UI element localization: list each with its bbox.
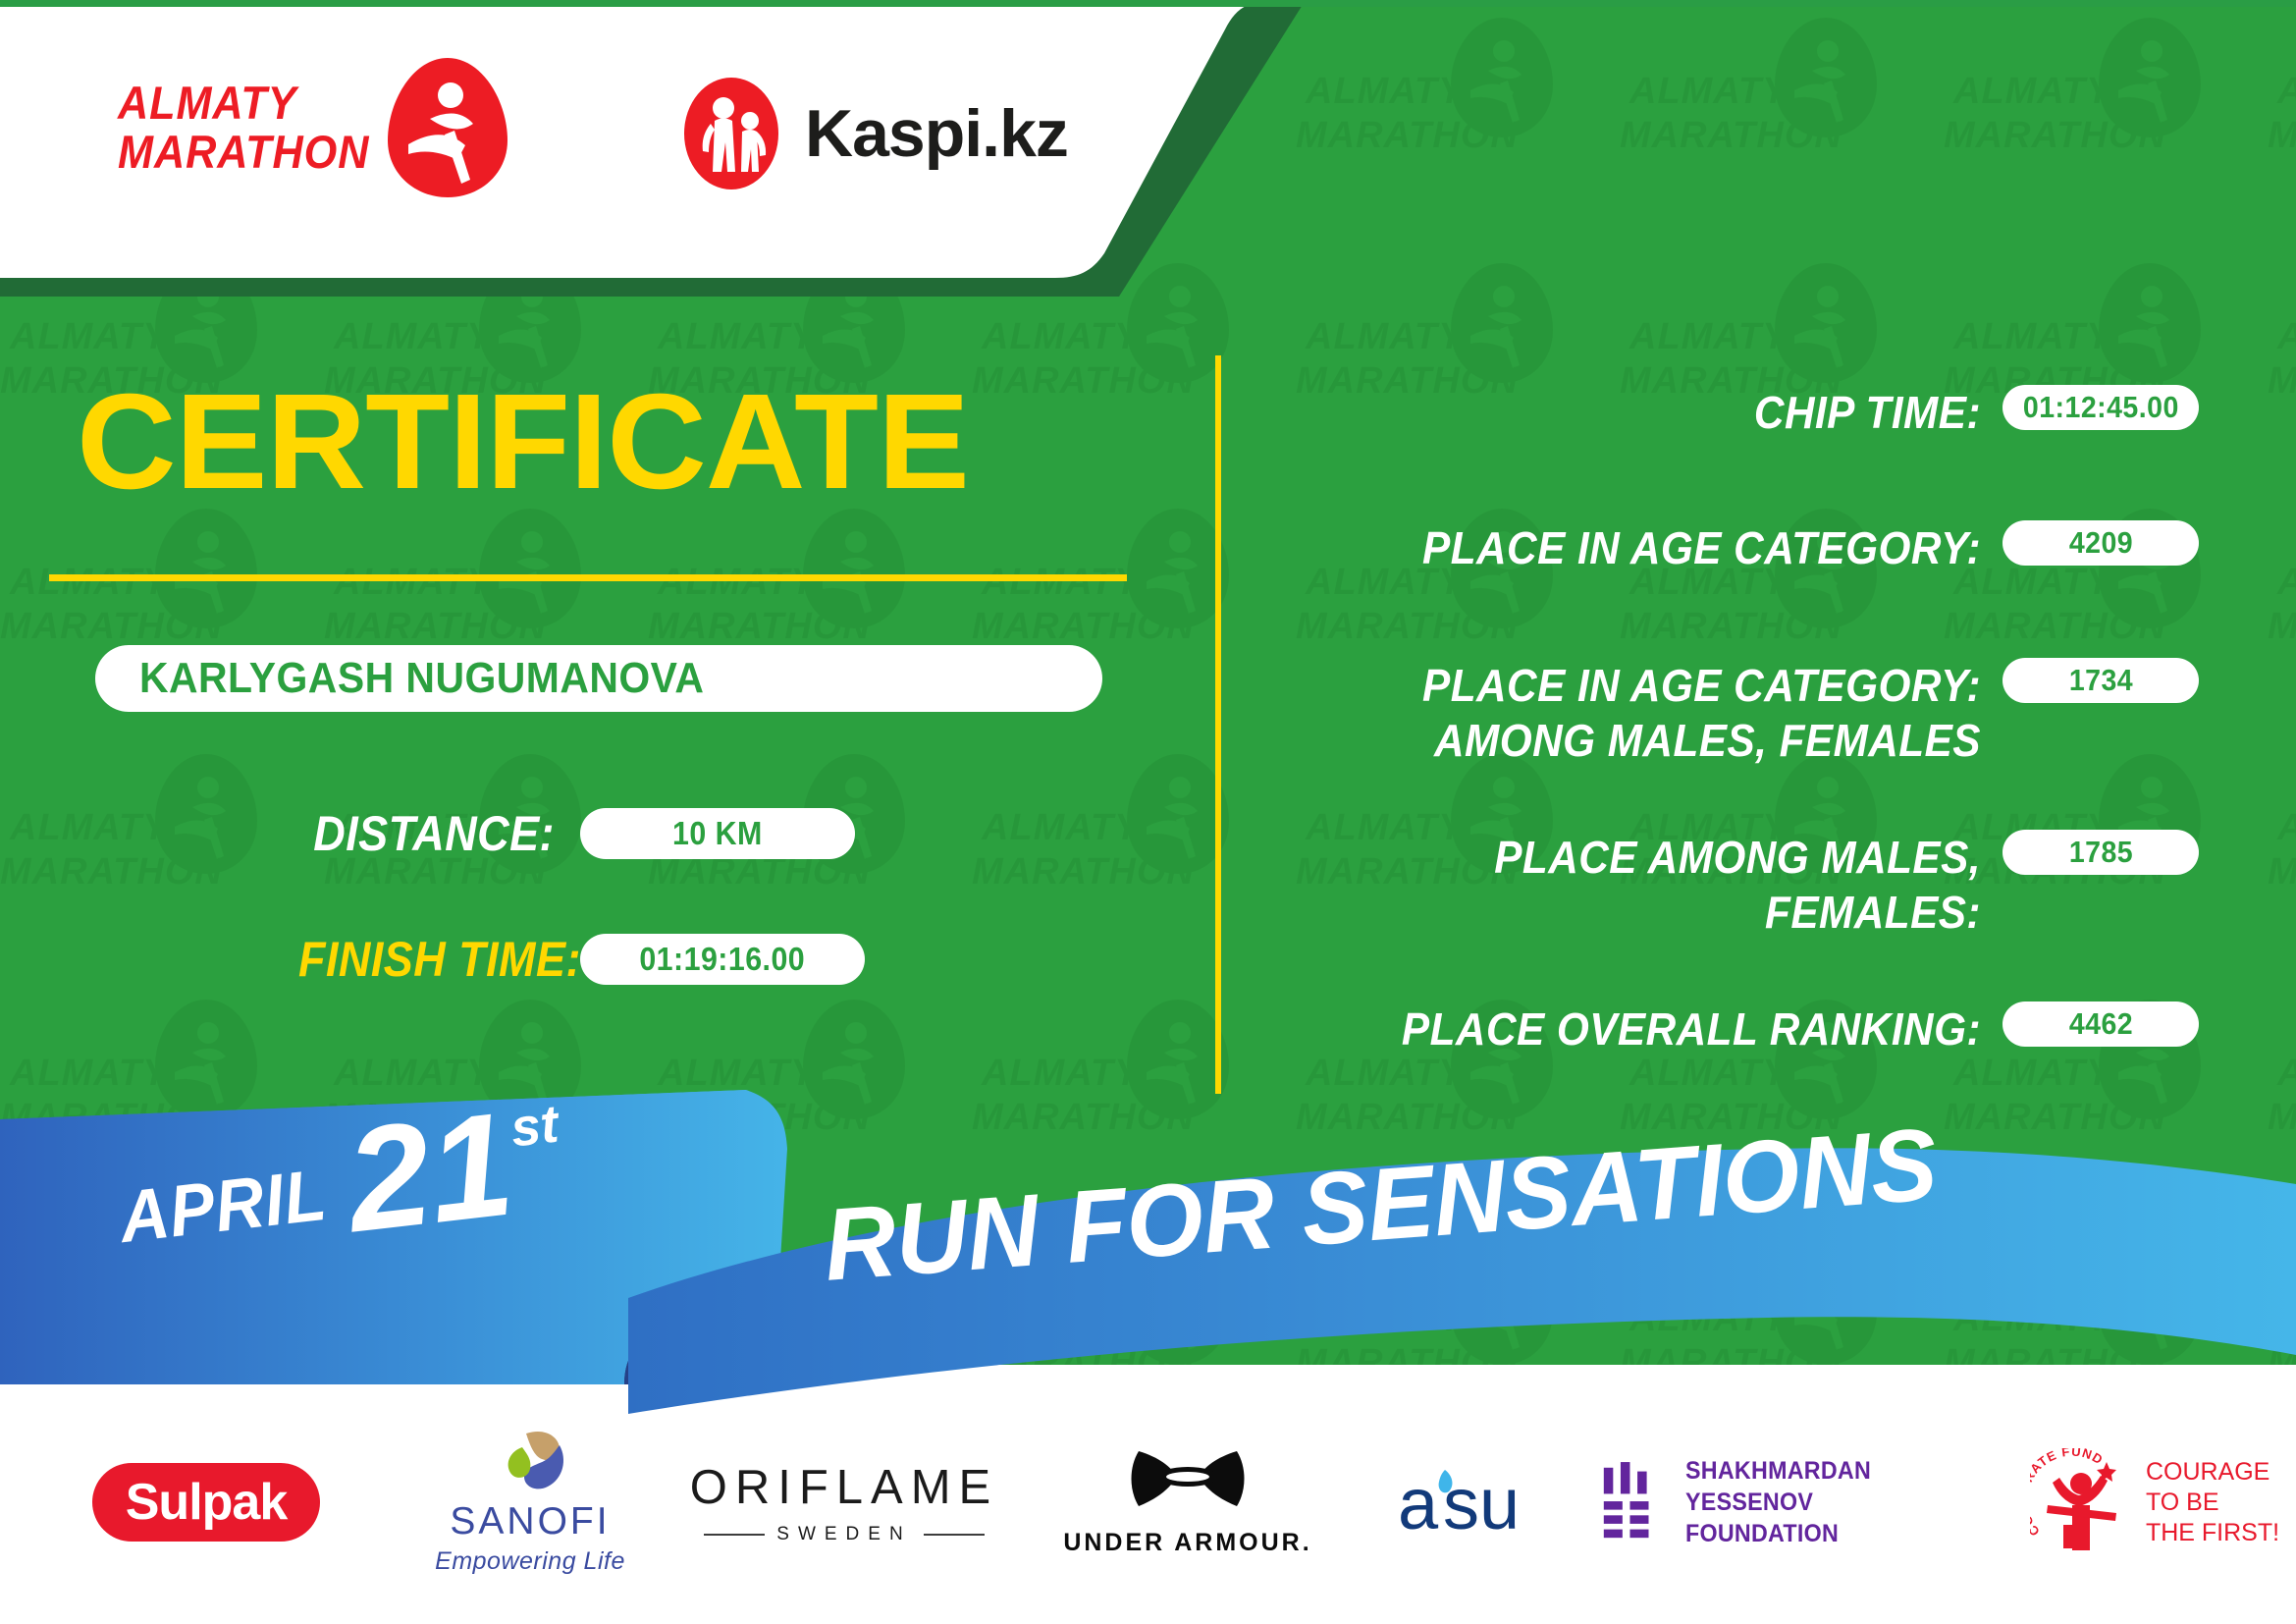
courage-runner-icon: CORPORATE FUND — [2030, 1448, 2132, 1556]
event-month: APRIL — [116, 1153, 331, 1259]
almaty-marathon-line1: ALMATY — [118, 79, 369, 128]
courage-fund-tagline: COURAGE TO BE THE FIRST! — [2146, 1457, 2279, 1548]
sponsor-courage-fund: CORPORATE FUND COURAGE TO BE THE FIRST! — [2022, 1414, 2287, 1591]
yessenov-foundation-wordmark: SHAKHMARDAN YESSENOV FOUNDATION — [1685, 1455, 1990, 1549]
place-age-category-value-pill: 4209 — [2002, 520, 2199, 566]
title-underline — [49, 574, 1127, 581]
place-age-category-label: PLACE IN AGE CATEGORY: — [1323, 520, 1981, 575]
event-day: 21 — [342, 1105, 517, 1238]
oriflame-country: SWEDEN — [776, 1524, 911, 1545]
event-day-suffix: st — [507, 1094, 561, 1160]
chip-time-value-pill: 01:12:45.00 — [2002, 385, 2199, 430]
sponsor-sulpak: Sulpak — [59, 1414, 353, 1591]
sanofi-swirl-icon — [489, 1430, 571, 1492]
svg-text:su: su — [1443, 1463, 1520, 1544]
oriflame-sub-row: SWEDEN — [690, 1524, 998, 1545]
under-armour-logo: UNDER ARMOUR. — [1063, 1447, 1311, 1557]
yessenov-foundation-icon — [1600, 1460, 1662, 1544]
top-green-strip — [0, 0, 2296, 7]
under-armour-icon — [1125, 1447, 1251, 1516]
stat-row: PLACE IN AGE CATEGORY: 4209 — [1266, 520, 2199, 575]
distance-value: 10 KM — [672, 815, 763, 852]
sulpak-wordmark: Sulpak — [126, 1474, 288, 1531]
sponsor-yessenov-foundation: SHAKHMARDAN YESSENOV FOUNDATION — [1600, 1414, 2012, 1591]
yessenov-foundation-logo: SHAKHMARDAN YESSENOV FOUNDATION — [1600, 1455, 2012, 1549]
courage-fund-logo: CORPORATE FUND COURAGE TO BE THE FIRST! — [2030, 1448, 2279, 1556]
stat-row: PLACE OVERALL RANKING: 4462 — [1266, 1001, 2199, 1056]
sulpak-logo: Sulpak — [92, 1463, 321, 1542]
kaspi-logo: Kaspi.kz — [677, 75, 1068, 192]
distance-value-pill: 10 KM — [580, 808, 855, 859]
stat-row: CHIP TIME: 01:12:45.00 — [1266, 385, 2199, 440]
chip-time-value: 01:12:45.00 — [2023, 390, 2179, 425]
place-among-gender-value: 1785 — [2068, 835, 2132, 870]
place-age-category-value: 4209 — [2068, 525, 2132, 561]
chip-time-label: CHIP TIME: — [1323, 385, 1981, 440]
finish-time-value: 01:19:16.00 — [640, 941, 806, 978]
kaspi-wordmark: Kaspi.kz — [805, 95, 1068, 172]
column-divider — [1215, 355, 1221, 1094]
asu-logo: a su — [1394, 1458, 1551, 1546]
place-age-category-gender-label: PLACE IN AGE CATEGORY: AMONG MALES, FEMA… — [1323, 658, 1981, 768]
almaty-marathon-wordmark: ALMATY MARATHON — [118, 79, 392, 177]
sponsor-sanofi: SANOFI Empowering Life — [383, 1414, 677, 1591]
sanofi-tagline: Empowering Life — [435, 1547, 625, 1576]
almaty-marathon-line2: MARATHON — [118, 128, 369, 177]
stat-row: PLACE AMONG MALES, FEMALES: 1785 — [1266, 830, 2199, 940]
oriflame-rule-right — [924, 1534, 985, 1536]
oriflame-logo: ORIFLAME SWEDEN — [690, 1460, 998, 1545]
kaspi-people-icon — [677, 75, 785, 192]
place-overall-value: 4462 — [2068, 1006, 2132, 1042]
participant-name: KARLYGASH NUGUMANOVA — [139, 654, 704, 703]
sanofi-logo: SANOFI Empowering Life — [435, 1430, 625, 1576]
distance-row: DISTANCE: 10 KM — [270, 805, 855, 862]
sanofi-wordmark: SANOFI — [435, 1500, 625, 1543]
stat-row: PLACE IN AGE CATEGORY: AMONG MALES, FEMA… — [1266, 658, 2199, 768]
finish-time-label: FINISH TIME: — [298, 931, 555, 988]
place-overall-value-pill: 4462 — [2002, 1001, 2199, 1047]
oriflame-wordmark: ORIFLAME — [690, 1460, 998, 1515]
participant-name-field: KARLYGASH NUGUMANOVA — [95, 645, 1102, 712]
sponsor-under-armour: UNDER ARMOUR. — [1041, 1414, 1335, 1591]
place-overall-label: PLACE OVERALL RANKING: — [1323, 1001, 1981, 1056]
under-armour-wordmark: UNDER ARMOUR. — [1063, 1529, 1311, 1557]
almaty-marathon-logo: ALMATY MARATHON — [118, 54, 511, 201]
place-among-gender-value-pill: 1785 — [2002, 830, 2199, 875]
page-title: CERTIFICATE — [77, 378, 969, 506]
oriflame-rule-left — [704, 1534, 765, 1536]
sponsor-strip: Sulpak SANOFI Empowering Life ORIFLAME — [0, 1414, 2296, 1624]
finish-time-value-pill: 01:19:16.00 — [580, 934, 865, 985]
distance-label: DISTANCE: — [298, 805, 555, 862]
sponsor-oriflame: ORIFLAME SWEDEN — [687, 1414, 1001, 1591]
almaty-marathon-runner-icon — [384, 54, 511, 201]
finish-time-row: FINISH TIME: 01:19:16.00 — [270, 931, 865, 988]
svg-text:a: a — [1398, 1463, 1439, 1544]
sponsor-asu: a su — [1345, 1414, 1600, 1591]
place-age-category-gender-value-pill: 1734 — [2002, 658, 2199, 703]
certificate-page: ALMATY MARATHON ALMATY MARATHON — [0, 0, 2296, 1624]
place-among-gender-label: PLACE AMONG MALES, FEMALES: — [1323, 830, 1981, 940]
place-age-category-gender-value: 1734 — [2068, 663, 2132, 698]
